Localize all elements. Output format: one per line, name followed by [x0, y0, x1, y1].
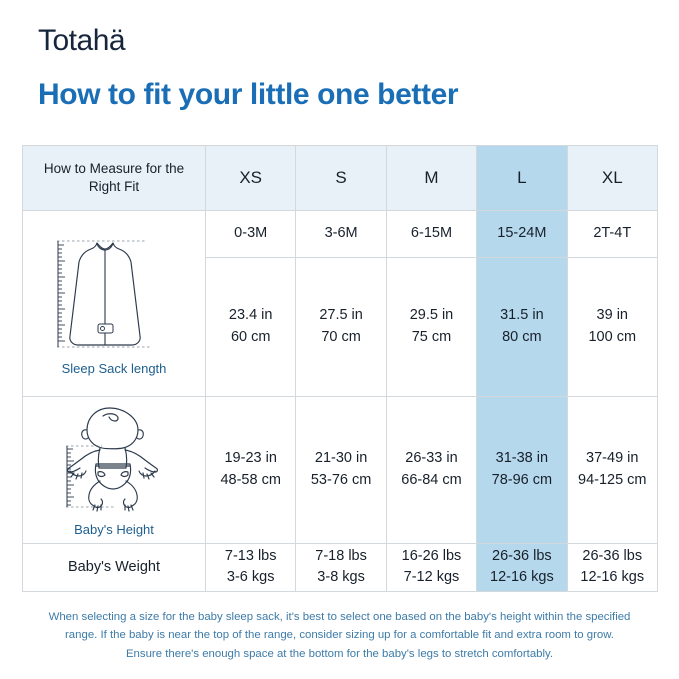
length-in-m: 29.5 in — [410, 307, 454, 323]
baby-figure-icon — [34, 402, 194, 520]
footnote: When selecting a size for the baby sleep… — [22, 608, 657, 663]
size-chart-table-wrap: How to Measure for the Right Fit XS S M … — [22, 145, 657, 592]
weight-kgs-xs: 3-6 kgs — [227, 569, 275, 585]
weight-kgs-l: 12-16 kgs — [490, 569, 554, 585]
weight-lbs-xs: 7-13 lbs — [225, 548, 277, 564]
length-cm-s: 70 cm — [321, 329, 361, 345]
height-value-xl: 37-49 in 94-125 cm — [567, 396, 657, 543]
length-value-s: 27.5 in 70 cm — [296, 258, 386, 397]
table-header-row: How to Measure for the Right Fit XS S M … — [23, 146, 658, 211]
sleep-sack-caption: Sleep Sack length — [62, 361, 167, 376]
length-value-m: 29.5 in 75 cm — [386, 258, 476, 397]
height-cm-l: 78-96 cm — [492, 472, 552, 488]
weight-value-xl: 26-36 lbs 12-16 kgs — [567, 543, 657, 591]
length-in-xl: 39 in — [597, 307, 628, 323]
length-value-l: 31.5 in 80 cm — [477, 258, 567, 397]
age-value-s: 3-6M — [296, 211, 386, 258]
baby-height-caption: Baby's Height — [74, 522, 154, 537]
weight-lbs-l: 26-36 lbs — [492, 548, 552, 564]
column-header-l: L — [477, 146, 567, 211]
weight-value-s: 7-18 lbs 3-8 kgs — [296, 543, 386, 591]
corner-header-label: How to Measure for the Right Fit — [23, 146, 206, 211]
table-row-babys-weight: Baby's Weight 7-13 lbs 3-6 kgs 7-18 lbs … — [23, 543, 658, 591]
babys-weight-label: Baby's Weight — [23, 543, 206, 591]
length-in-xs: 23.4 in — [229, 307, 273, 323]
size-chart-table: How to Measure for the Right Fit XS S M … — [22, 145, 658, 592]
table-row-age: Sleep Sack length 0-3M 3-6M 6-15M 15-24M… — [23, 211, 658, 258]
footnote-line-2: range. If the baby is near the top of th… — [22, 626, 657, 644]
footnote-line-1: When selecting a size for the baby sleep… — [22, 608, 657, 626]
length-value-xs: 23.4 in 60 cm — [206, 258, 296, 397]
column-header-m: M — [386, 146, 476, 211]
height-in-xs: 19-23 in — [224, 450, 276, 466]
weight-kgs-s: 3-8 kgs — [317, 569, 365, 585]
height-in-xl: 37-49 in — [586, 450, 638, 466]
page-title: How to fit your little one better — [38, 78, 458, 111]
brand-logo: Totahä — [38, 26, 125, 56]
height-value-xs: 19-23 in 48-58 cm — [206, 396, 296, 543]
baby-illustration-cell: Baby's Height — [23, 396, 206, 543]
age-value-m: 6-15M — [386, 211, 476, 258]
height-in-m: 26-33 in — [405, 450, 457, 466]
weight-lbs-xl: 26-36 lbs — [582, 548, 642, 564]
height-cm-xs: 48-58 cm — [220, 472, 280, 488]
height-value-s: 21-30 in 53-76 cm — [296, 396, 386, 543]
footnote-line-3: Ensure there's enough space at the botto… — [22, 645, 657, 663]
height-in-l: 31-38 in — [496, 450, 548, 466]
sleep-sack-icon — [34, 231, 194, 359]
length-cm-xl: 100 cm — [588, 329, 636, 345]
height-in-s: 21-30 in — [315, 450, 367, 466]
length-in-s: 27.5 in — [319, 307, 363, 323]
weight-kgs-xl: 12-16 kgs — [580, 569, 644, 585]
sleep-sack-illustration-cell: Sleep Sack length — [23, 211, 206, 397]
weight-lbs-m: 16-26 lbs — [402, 548, 462, 564]
age-value-xs: 0-3M — [206, 211, 296, 258]
column-header-s: S — [296, 146, 386, 211]
age-value-l: 15-24M — [477, 211, 567, 258]
table-row-babys-height: Baby's Height 19-23 in 48-58 cm 21-30 in… — [23, 396, 658, 543]
height-cm-m: 66-84 cm — [401, 472, 461, 488]
weight-value-l: 26-36 lbs 12-16 kgs — [477, 543, 567, 591]
weight-lbs-s: 7-18 lbs — [315, 548, 367, 564]
age-value-xl: 2T-4T — [567, 211, 657, 258]
height-value-m: 26-33 in 66-84 cm — [386, 396, 476, 543]
length-cm-l: 80 cm — [502, 329, 542, 345]
length-value-xl: 39 in 100 cm — [567, 258, 657, 397]
height-cm-xl: 94-125 cm — [578, 472, 647, 488]
length-in-l: 31.5 in — [500, 307, 544, 323]
column-header-xs: XS — [206, 146, 296, 211]
weight-kgs-m: 7-12 kgs — [404, 569, 460, 585]
column-header-xl: XL — [567, 146, 657, 211]
size-chart-page: Totahä How to fit your little one better… — [0, 0, 679, 679]
length-cm-xs: 60 cm — [231, 329, 271, 345]
weight-value-m: 16-26 lbs 7-12 kgs — [386, 543, 476, 591]
weight-value-xs: 7-13 lbs 3-6 kgs — [206, 543, 296, 591]
length-cm-m: 75 cm — [412, 329, 452, 345]
height-cm-s: 53-76 cm — [311, 472, 371, 488]
height-value-l: 31-38 in 78-96 cm — [477, 396, 567, 543]
